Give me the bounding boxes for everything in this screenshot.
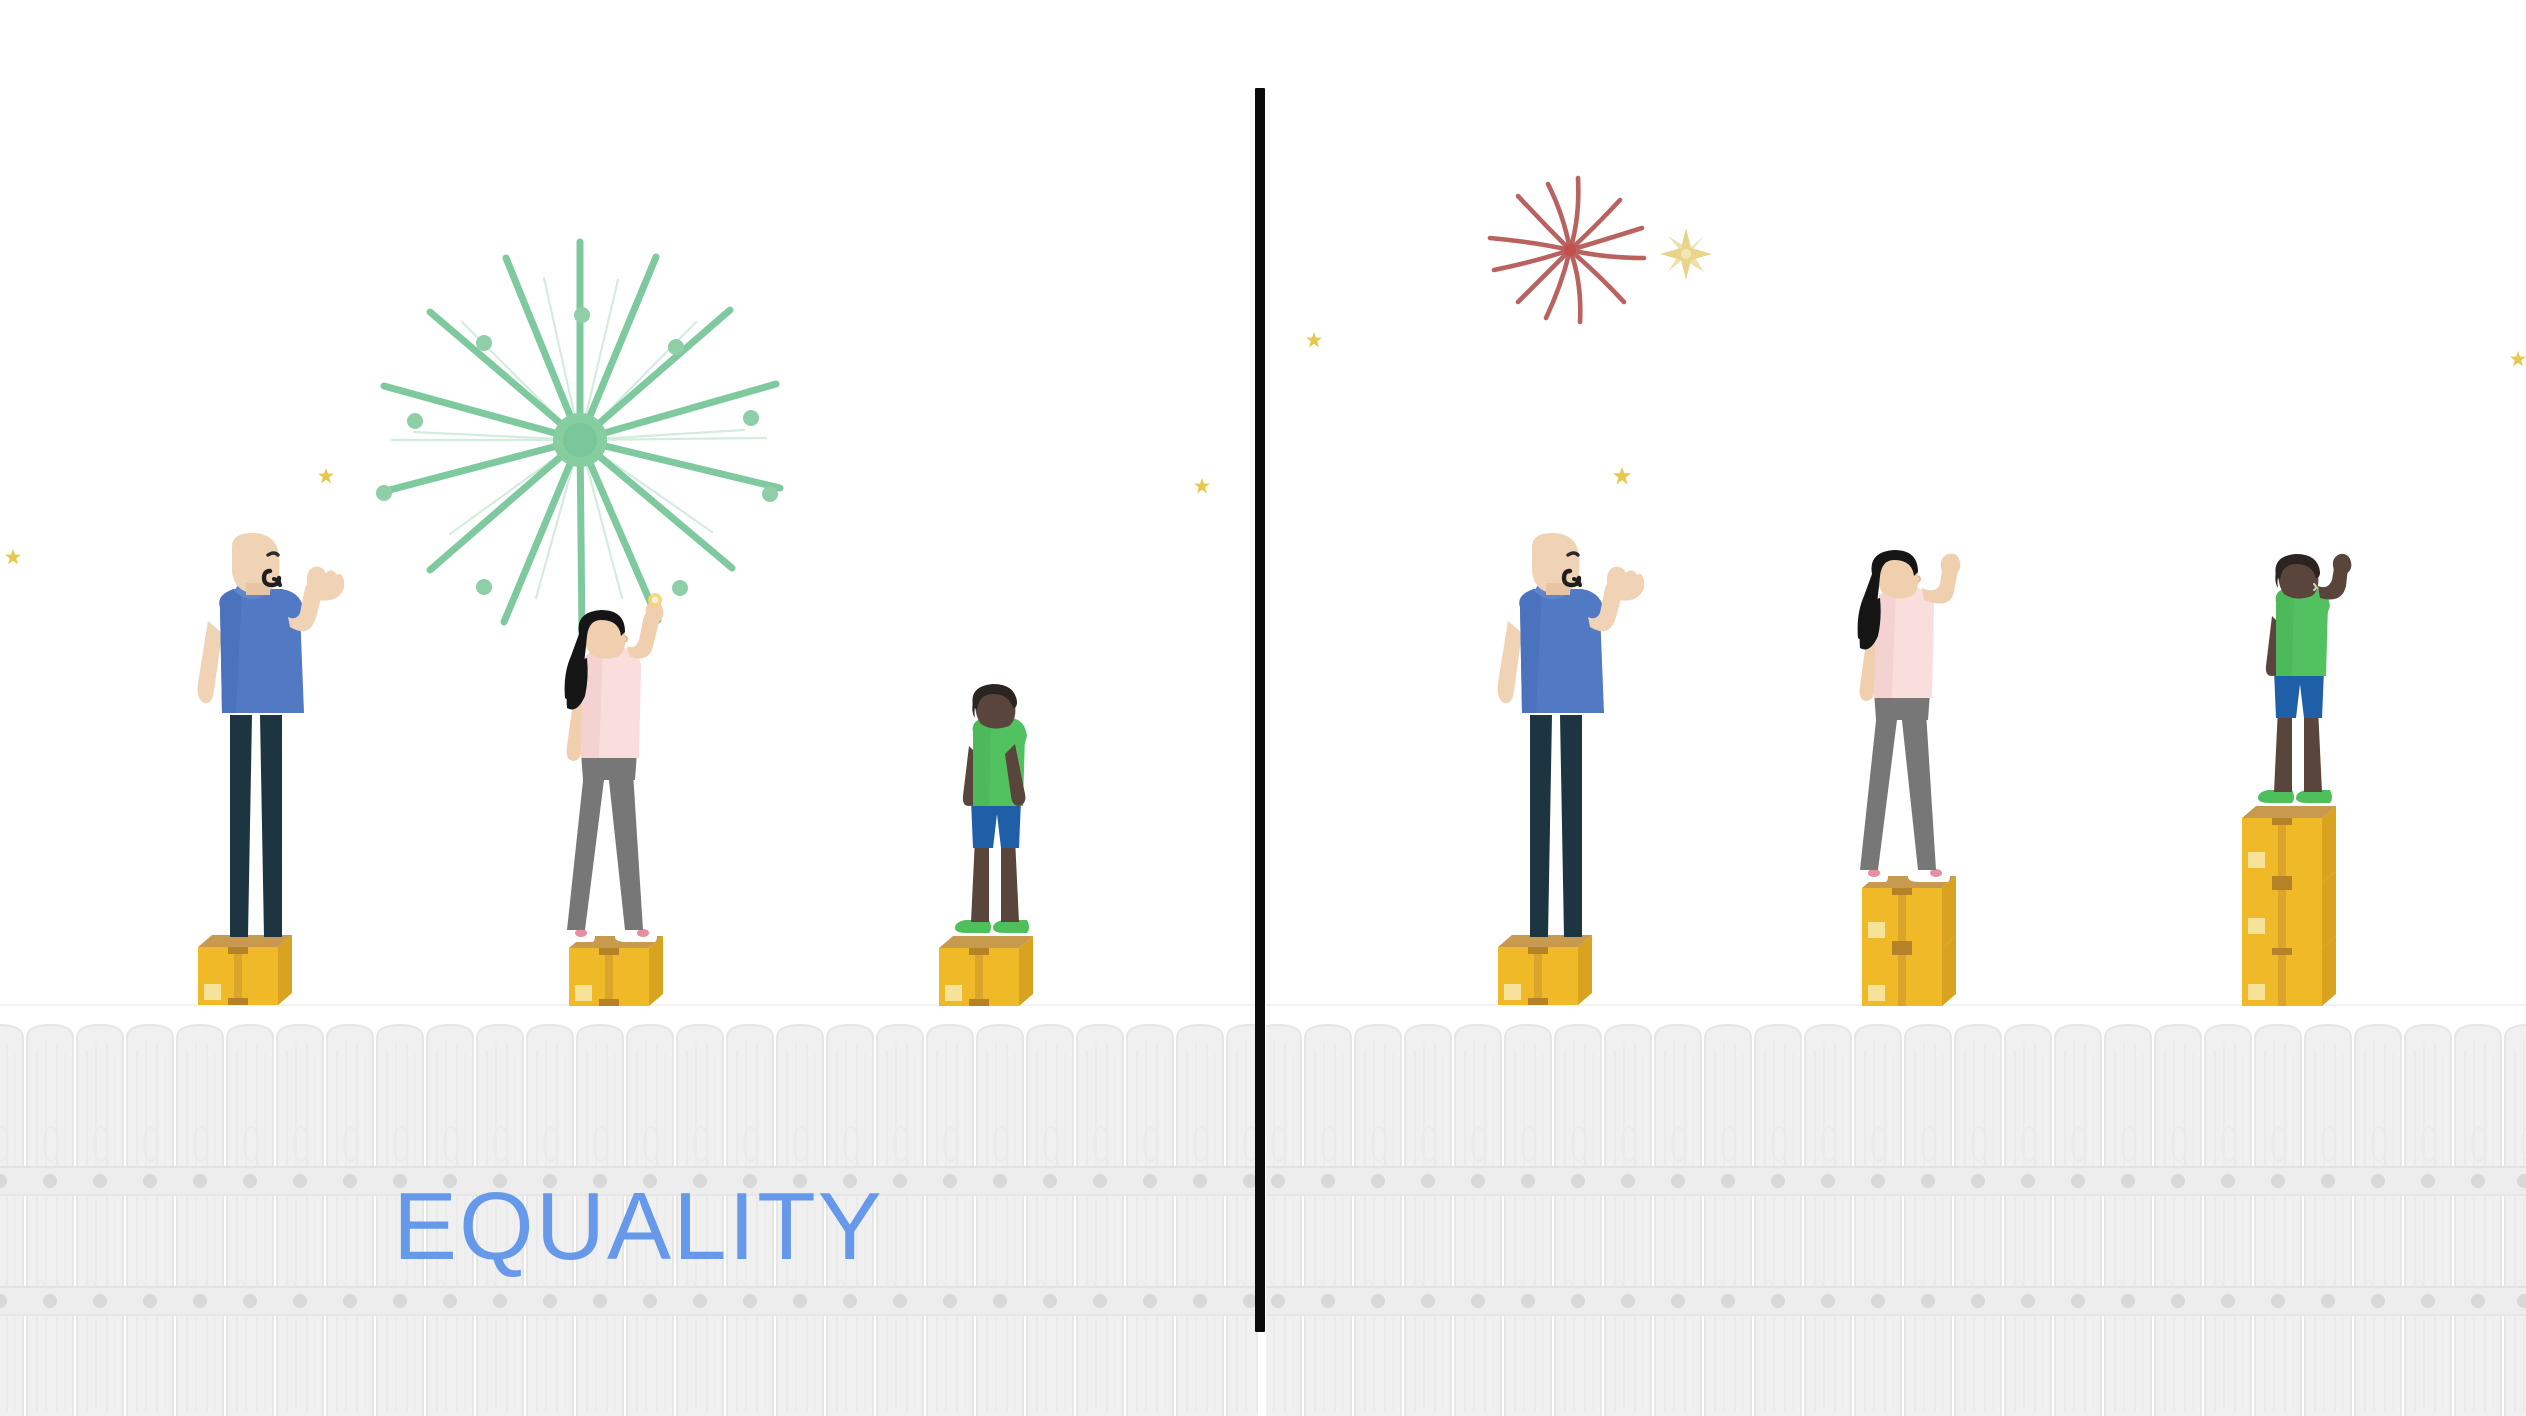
picket-fence-right bbox=[1266, 1024, 2526, 1416]
green-starburst-firework bbox=[310, 230, 850, 650]
yellow-star-sparkle bbox=[1193, 477, 1211, 500]
figure-child-left bbox=[945, 688, 1065, 938]
figure-child-right bbox=[2248, 558, 2378, 808]
box-stack-tall-man-right bbox=[1494, 935, 1604, 1005]
panel-divider-line bbox=[1255, 88, 1265, 1332]
caption-equality: EQUALITY bbox=[393, 1172, 884, 1282]
figure-tall-man-right bbox=[1486, 533, 1666, 943]
box-stack-woman-right bbox=[1858, 876, 1968, 1006]
red-pinwheel-firework bbox=[1440, 150, 1740, 380]
figure-woman-left bbox=[545, 612, 705, 952]
yellow-star-sparkle bbox=[1612, 466, 1632, 491]
figure-tall-man-left bbox=[186, 533, 366, 943]
box-stack-child-right bbox=[2238, 806, 2348, 1006]
panel-equality: EQUALITY bbox=[0, 0, 1258, 1416]
panel-equity: EQUITY bbox=[1266, 0, 2526, 1416]
yellow-star-sparkle bbox=[2509, 350, 2526, 373]
box-stack-tall-man-left bbox=[194, 935, 304, 1005]
yellow-star-sparkle bbox=[1305, 331, 1323, 354]
yellow-star-sparkle bbox=[317, 467, 335, 490]
figure-woman-right bbox=[1838, 552, 1998, 892]
box-stack-child-left bbox=[935, 936, 1045, 1006]
yellow-star-sparkle bbox=[4, 548, 22, 571]
illustration-canvas: EQUALITY bbox=[0, 0, 2526, 1416]
